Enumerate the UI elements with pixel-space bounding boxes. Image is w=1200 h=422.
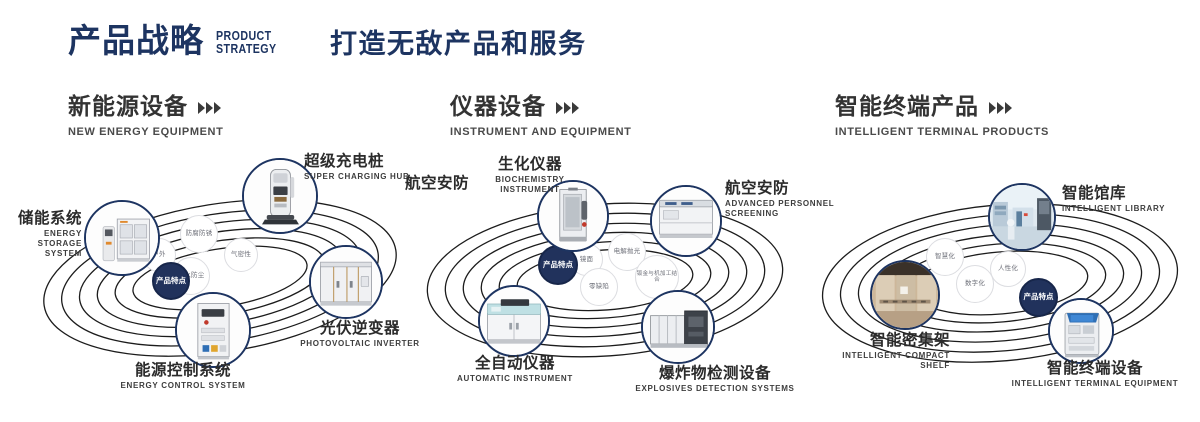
node-label-aviation-security-side: 航空安防 (405, 175, 469, 192)
section-title-intelligent-terminal: 智能终端产品 INTELLIGENT TERMINAL PRODUCTS (835, 96, 1049, 138)
node-label-intelligent-compact-shelf: 智能密集架 INTELLIGENT COMPACT SHELF (810, 332, 950, 371)
node-automatic-instrument[interactable] (478, 285, 550, 357)
page-title-en-line2: STRATEGY (216, 42, 277, 55)
chevron-right-icon (556, 102, 579, 114)
node-explosives-detection-systems[interactable] (641, 290, 715, 364)
node-label-cn: 储能系统 (0, 210, 82, 227)
page-title-cn: 产品战略 (68, 24, 204, 57)
node-label-biochemistry-instrument: 生化仪器 BIOCHEMISTRY INSTRUMENT (445, 156, 615, 195)
node-label-en: AUTOMATIC INSTRUMENT (430, 374, 600, 384)
node-intelligent-library[interactable] (988, 183, 1056, 251)
node-label-en: EXPLOSIVES DETECTION SYSTEMS (605, 384, 825, 394)
cluster-instrument-and-equipment: 镜面 电解抛光 零缺陷 钣金与机加工结合 产品特点 生化仪器 BIOCHEMIS… (405, 150, 805, 400)
section-title-new-energy: 新能源设备 NEW ENERGY EQUIPMENT (68, 96, 223, 138)
node-label-energy-control-system: 能源控制系统 ENERGY CONTROL SYSTEM (83, 362, 283, 391)
node-label-cn: 航空安防 (405, 175, 469, 192)
node-label-cn: 生化仪器 (445, 156, 615, 173)
node-photovoltaic-inverter[interactable] (309, 245, 383, 319)
page-title-en: PRODUCT STRATEGY (216, 29, 277, 55)
section-title-en: INSTRUMENT AND EQUIPMENT (450, 126, 631, 138)
node-energy-storage-system[interactable] (84, 200, 160, 276)
section-title-cn: 仪器设备 (450, 96, 546, 119)
section-title-en: NEW ENERGY EQUIPMENT (68, 126, 223, 138)
node-energy-control-system[interactable] (175, 292, 251, 368)
node-label-en: BIOCHEMISTRY INSTRUMENT (485, 175, 575, 195)
node-label-cn: 爆炸物检测设备 (605, 365, 825, 382)
node-label-en: INTELLIGENT COMPACT SHELF (810, 351, 950, 371)
page-subtitle: 打造无敌产品和服务 (330, 31, 587, 58)
node-label-automatic-instrument: 全自动仪器 AUTOMATIC INSTRUMENT (430, 355, 600, 384)
feature-bubble: 数字化 (956, 265, 994, 303)
node-intelligent-terminal-equipment[interactable] (1048, 298, 1114, 364)
product-strategy-infographic: 产品战略 PRODUCT STRATEGY 打造无敌产品和服务 新能源设备 NE… (0, 0, 1200, 422)
node-label-en: INTELLIGENT TERMINAL EQUIPMENT (990, 379, 1200, 389)
section-title-cn: 新能源设备 (68, 96, 188, 119)
node-label-explosives-detection-systems: 爆炸物检测设备 EXPLOSIVES DETECTION SYSTEMS (605, 365, 825, 394)
node-label-cn: 智能终端设备 (990, 360, 1200, 377)
node-label-en: ENERGY STORAGE SYSTEM (0, 229, 82, 259)
node-label-energy-storage-system: 储能系统 ENERGY STORAGE SYSTEM (0, 210, 82, 259)
node-label-cn: 全自动仪器 (430, 355, 600, 372)
feature-bubble: 零缺陷 (580, 268, 618, 306)
node-label-intelligent-library: 智能馆库 INTELLIGENT LIBRARY (1062, 185, 1200, 214)
chevron-right-icon (989, 102, 1012, 114)
node-label-en: ENERGY CONTROL SYSTEM (83, 381, 283, 391)
node-intelligent-compact-shelf[interactable] (870, 260, 940, 330)
node-label-cn: 智能密集架 (810, 332, 950, 349)
page-header: 产品战略 PRODUCT STRATEGY (68, 24, 290, 57)
feature-bubble: 气密性 (224, 238, 258, 272)
node-advanced-personnel-screening[interactable] (650, 185, 722, 257)
cluster-new-energy-equipment: 防腐防锈 户外 防水防尘 气密性 产品特点 储能系统 ENERGY STOR (20, 150, 420, 400)
section-title-instrument: 仪器设备 INSTRUMENT AND EQUIPMENT (450, 96, 631, 138)
feature-bubble: 人性化 (990, 251, 1026, 287)
cluster-intelligent-terminal-products: 智慧化 数字化 人性化 产品特点 智能馆库 IN (800, 150, 1200, 400)
feature-bubble: 防腐防锈 (180, 215, 218, 253)
node-label-intelligent-terminal-equipment: 智能终端设备 INTELLIGENT TERMINAL EQUIPMENT (990, 360, 1200, 389)
node-label-cn: 智能馆库 (1062, 185, 1200, 202)
node-label-en: INTELLIGENT LIBRARY (1062, 204, 1200, 214)
section-title-cn: 智能终端产品 (835, 96, 979, 119)
node-label-cn: 能源控制系统 (83, 362, 283, 379)
chevron-right-icon (198, 102, 221, 114)
section-title-en: INTELLIGENT TERMINAL PRODUCTS (835, 126, 1049, 138)
